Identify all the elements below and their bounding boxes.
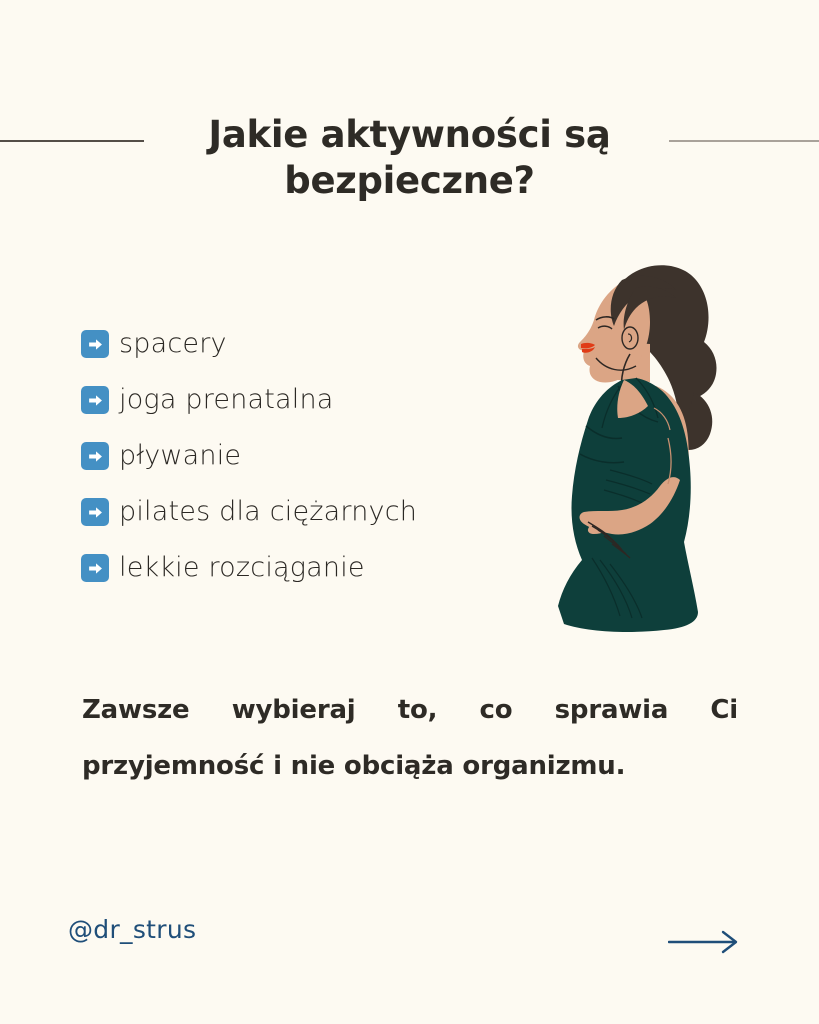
arrow-right-icon bbox=[81, 442, 109, 470]
closing-paragraph: Zawsze wybieraj to, co sprawia Ci przyje… bbox=[82, 682, 738, 794]
arrow-right-long-icon[interactable] bbox=[668, 928, 744, 954]
arrow-right-icon bbox=[81, 330, 109, 358]
activity-label: pływanie bbox=[119, 441, 241, 471]
title-container: Jakie aktywności są bezpieczne? bbox=[0, 112, 819, 204]
list-item[interactable]: lekkie rozciąganie bbox=[81, 540, 541, 596]
page-title: Jakie aktywności są bezpieczne? bbox=[200, 112, 620, 204]
arrow-right-icon bbox=[81, 554, 109, 582]
list-item[interactable]: pływanie bbox=[81, 428, 541, 484]
activity-list: spacery joga prenatalna pływanie pilates… bbox=[81, 316, 541, 596]
activity-label: joga prenatalna bbox=[119, 385, 334, 415]
arrow-right-icon bbox=[81, 498, 109, 526]
list-item[interactable]: spacery bbox=[81, 316, 541, 372]
list-item[interactable]: joga prenatalna bbox=[81, 372, 541, 428]
handle-label: @dr_strus bbox=[68, 915, 196, 944]
arrow-right-icon bbox=[81, 386, 109, 414]
pregnant-woman-illustration bbox=[518, 258, 743, 640]
activity-label: spacery bbox=[119, 329, 227, 359]
activity-label: lekkie rozciąganie bbox=[119, 553, 365, 583]
list-item[interactable]: pilates dla ciężarnych bbox=[81, 484, 541, 540]
activity-label: pilates dla ciężarnych bbox=[119, 497, 417, 527]
